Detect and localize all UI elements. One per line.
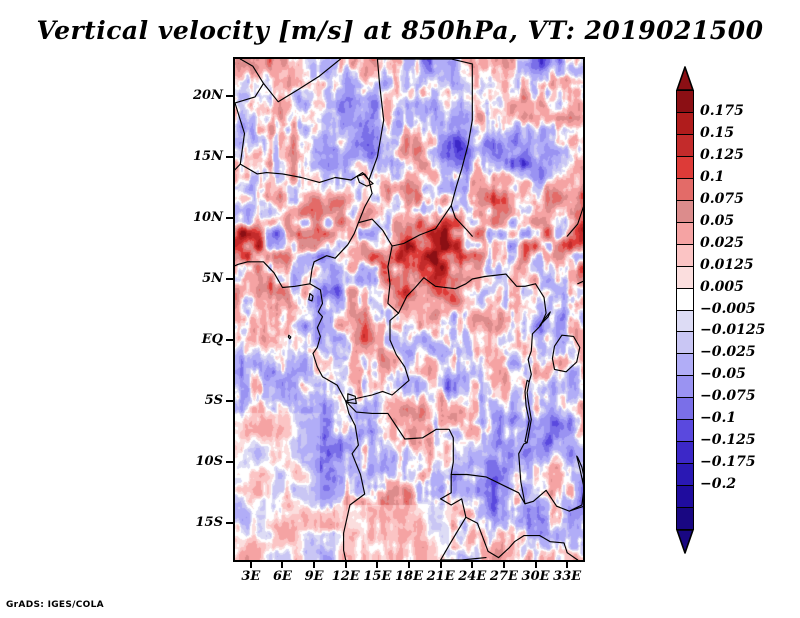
border-line — [369, 59, 384, 180]
y-tick-mark — [226, 156, 233, 158]
border-line — [567, 193, 583, 236]
border-line — [358, 206, 451, 246]
colorbar-label: 0.15 — [700, 126, 734, 140]
y-tick-mark — [226, 339, 233, 341]
border-line — [578, 279, 583, 284]
colorbar-swatch — [676, 353, 694, 376]
border-line — [540, 312, 551, 326]
colorbar-label: −0.05 — [700, 367, 746, 381]
y-tick-label-5n: 5N — [163, 272, 223, 285]
border-line — [240, 164, 369, 182]
colorbar-swatch — [676, 112, 694, 135]
border-line — [235, 103, 245, 187]
grads-attribution: GrADS: IGES/COLA — [6, 600, 104, 610]
colorbar-swatch — [676, 222, 694, 245]
colorbar-label: 0.0125 — [700, 258, 754, 272]
colorbar-swatch — [676, 375, 694, 398]
y-tick-mark — [226, 400, 233, 402]
colorbar-swatch — [676, 244, 694, 267]
colorbar-label: −0.075 — [700, 389, 756, 403]
colorbar-label: 0.025 — [700, 236, 744, 250]
colorbar-swatch — [676, 463, 694, 486]
x-tick-mark — [566, 561, 568, 568]
y-tick-mark — [226, 522, 233, 524]
colorbar-swatch — [676, 288, 694, 311]
y-tick-label-15n: 15N — [163, 150, 223, 163]
colorbar-label: −0.025 — [700, 345, 756, 359]
y-tick-label-5s: 5S — [163, 394, 223, 407]
colorbar-swatch — [676, 397, 694, 420]
colorbar-label: 0.05 — [700, 214, 734, 228]
border-line — [288, 335, 291, 339]
colorbar-label: −0.005 — [700, 302, 756, 316]
country-borders-overlay — [235, 59, 583, 560]
border-line — [528, 284, 546, 382]
border-line — [388, 246, 536, 313]
x-tick-label-33e: 33E — [547, 570, 587, 583]
y-tick-label-10n: 10N — [163, 211, 223, 224]
x-tick-mark — [535, 561, 537, 568]
x-tick-mark — [281, 561, 283, 568]
border-line — [348, 394, 357, 404]
colorbar-swatch — [676, 331, 694, 354]
x-tick-mark — [440, 561, 442, 568]
map-plot-area — [233, 57, 585, 562]
colorbar-label: 0.005 — [700, 280, 744, 294]
border-line — [441, 499, 466, 560]
x-tick-mark — [313, 561, 315, 568]
border-line — [569, 456, 583, 511]
colorbar-swatch — [676, 310, 694, 333]
y-tick-mark — [226, 95, 233, 97]
colorbar-swatch — [676, 485, 694, 508]
colorbar-swatch — [676, 266, 694, 289]
y-tick-label-10s: 10S — [163, 455, 223, 468]
colorbar-label: 0.125 — [700, 148, 744, 162]
border-line — [235, 262, 310, 288]
colorbar-arrow-max — [676, 66, 694, 90]
colorbar-label: −0.125 — [700, 433, 756, 447]
border-line — [441, 558, 486, 560]
x-tick-mark — [345, 561, 347, 568]
y-tick-label-15s: 15S — [163, 516, 223, 529]
colorbar-swatch — [676, 134, 694, 157]
colorbar — [676, 66, 696, 553]
colorbar-label: −0.175 — [700, 455, 756, 469]
colorbar-label: −0.0125 — [700, 323, 765, 337]
colorbar-swatch — [676, 90, 694, 113]
border-line — [310, 284, 346, 401]
x-tick-mark — [376, 561, 378, 568]
y-tick-mark — [226, 461, 233, 463]
border-line — [310, 180, 372, 284]
colorbar-swatch — [676, 441, 694, 464]
border-line — [525, 380, 531, 442]
border-line — [466, 517, 567, 557]
y-tick-mark — [226, 217, 233, 219]
border-line — [235, 83, 264, 103]
border-line — [451, 120, 472, 236]
colorbar-label: −0.1 — [700, 411, 736, 425]
colorbar-label: 0.175 — [700, 104, 744, 118]
border-line — [346, 401, 454, 499]
border-line — [552, 335, 579, 372]
y-tick-label-20n: 20N — [163, 89, 223, 102]
x-tick-mark — [250, 561, 252, 568]
border-line — [451, 475, 569, 512]
border-line — [377, 59, 472, 120]
y-tick-label-eq: EQ — [163, 333, 223, 346]
colorbar-arrow-min — [676, 528, 694, 558]
border-line — [567, 553, 578, 560]
colorbar-swatch — [676, 507, 694, 530]
colorbar-label: −0.2 — [700, 477, 736, 491]
x-tick-mark — [471, 561, 473, 568]
page-title: Vertical velocity [m/s] at 850hPa, VT: 2… — [0, 16, 800, 45]
y-tick-mark — [226, 278, 233, 280]
colorbar-swatch — [676, 200, 694, 223]
colorbar-swatch — [676, 178, 694, 201]
colorbar-swatch — [676, 156, 694, 179]
colorbar-label: 0.075 — [700, 192, 744, 206]
border-line — [309, 294, 313, 301]
border-line — [344, 401, 365, 560]
border-line — [346, 313, 409, 401]
x-tick-mark — [503, 561, 505, 568]
colorbar-label: 0.1 — [700, 170, 724, 184]
x-tick-mark — [408, 561, 410, 568]
colorbar-swatch — [676, 419, 694, 442]
